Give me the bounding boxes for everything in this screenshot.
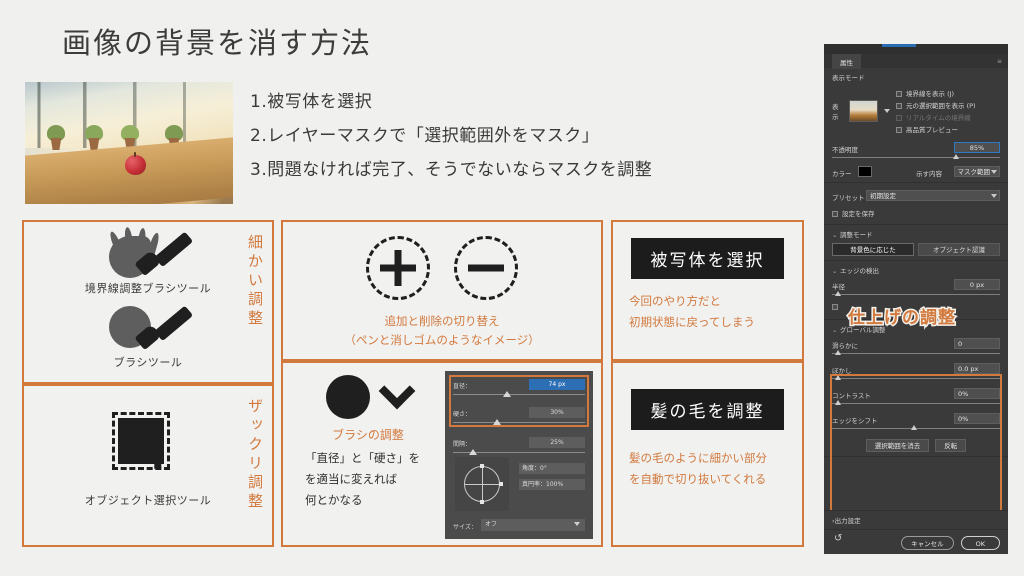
caret-down-icon[interactable]: [884, 109, 890, 113]
brush-desc-line3: 何とかなる: [305, 490, 443, 511]
indicates-label: 示す内容: [916, 168, 942, 178]
step-item: 2.レイヤーマスクで「選択範囲外をマスク」: [250, 119, 652, 153]
section-preset: プリセット 初期設定 設定を保存: [824, 183, 1008, 225]
cancel-button[interactable]: キャンセル: [901, 536, 954, 550]
card-brush-settings: ブラシの調整 「直径」と「硬さ」を を適当に変えれば 何とかなる 直径： 74 …: [281, 361, 603, 547]
brush-settings-panel: 直径： 74 px 硬さ： 30% 間隔： 25% 角度：0°: [445, 371, 593, 539]
color-swatch[interactable]: [858, 166, 872, 177]
overlay-finish-label: 仕上げの調整: [848, 303, 956, 328]
refine-edge-brush-icon: [105, 228, 191, 280]
card-select-subject: 被写体を選択 今回のやり方だと 初期状態に戻ってしまう: [611, 220, 804, 361]
contrast-value[interactable]: 0%: [954, 388, 1000, 399]
smooth-label: 滑らかに: [832, 340, 858, 350]
page-title: 画像の背景を消す方法: [62, 20, 372, 62]
tab-properties[interactable]: 属性: [832, 54, 861, 69]
card-fine-adjust: 細かい調整 境界線調整ブラシツール ブラシツール: [22, 220, 274, 384]
hardness-value[interactable]: 30%: [529, 407, 585, 418]
adjust-mode-color-aware[interactable]: 背景色に応じた: [832, 243, 914, 256]
color-label: カラー: [832, 168, 852, 178]
ok-button[interactable]: OK: [961, 536, 1000, 550]
smooth-slider[interactable]: [832, 350, 1000, 358]
step-item: 1.被写体を選択: [250, 85, 652, 119]
save-settings-label: 設定を保存: [842, 210, 875, 218]
radius-value[interactable]: 0 px: [954, 279, 1000, 290]
feather-value[interactable]: 0.0 px: [954, 363, 1000, 374]
card-add-subtract: 追加と削除の切り替え （ペンと消しゴムのようなイメージ）: [281, 220, 603, 361]
tool-caption-refine-brush: 境界線調整ブラシツール: [24, 280, 272, 296]
checkbox-label: 元の選択範囲を表示 (P): [906, 102, 976, 110]
invert-button[interactable]: 反転: [935, 439, 966, 452]
checkbox-box[interactable]: [896, 127, 902, 133]
reset-icon[interactable]: ↺: [834, 533, 842, 544]
opacity-slider[interactable]: [832, 154, 1000, 162]
view-mode-title: 表示モード: [832, 72, 1000, 82]
banner-select-subject: 被写体を選択: [631, 238, 784, 279]
radius-label: 半径: [832, 281, 845, 291]
size-value: オフ: [485, 521, 497, 528]
checkbox-box: [896, 115, 902, 121]
indicates-value: マスク範囲: [958, 168, 991, 176]
checkbox-save-settings[interactable]: 設定を保存: [832, 208, 1000, 218]
shift-edge-slider[interactable]: [832, 425, 1000, 433]
view-thumbnail[interactable]: [849, 100, 878, 122]
feather-label: ぼかし: [832, 365, 852, 375]
panel-footer: ›出力設定 キャンセル OK ↺: [824, 510, 1008, 554]
step-item: 3.問題なければ完了、そうでないならマスクを調整: [250, 153, 652, 187]
edge-detection-title-label: エッジの検出: [840, 267, 879, 275]
feather-slider[interactable]: [832, 375, 1000, 383]
card-refine-hair: 髪の毛を調整 髪の毛のように細かい部分 を自動で切り抜いてくれる: [611, 361, 804, 547]
card-fine-vertical-label: 細かい調整: [245, 234, 266, 329]
spacing-value[interactable]: 25%: [529, 437, 585, 448]
smooth-value[interactable]: 0: [954, 338, 1000, 349]
tool-caption-brush: ブラシツール: [24, 354, 272, 370]
hardness-label: 硬さ：: [453, 409, 471, 418]
checkbox-show-original-selection[interactable]: 元の選択範囲を表示 (P): [896, 100, 1000, 110]
hardness-slider[interactable]: [453, 419, 585, 428]
photo-apple: [125, 155, 146, 175]
roundness-label: 真円率：: [522, 481, 546, 488]
output-settings-row[interactable]: ›出力設定: [824, 510, 1008, 530]
roundness-value: 100%: [546, 481, 563, 488]
spacing-label: 間隔：: [453, 439, 471, 448]
diameter-value[interactable]: 74 px: [529, 379, 585, 390]
diameter-label: 直径：: [453, 381, 471, 390]
checkbox-box[interactable]: [832, 304, 838, 310]
checkbox-realtime-edge: リアルタイムの境界線: [896, 112, 1000, 122]
hero-photo: [25, 82, 233, 204]
subject-note-line2: 初期状態に戻ってしまう: [629, 312, 802, 333]
plus-circle-icon: [366, 236, 430, 300]
angle-roundness-dial[interactable]: [455, 457, 509, 511]
panel-titlebar[interactable]: [824, 44, 1008, 54]
shift-edge-value[interactable]: 0%: [954, 413, 1000, 424]
subject-note-line1: 今回のやり方だと: [629, 291, 802, 312]
preset-label: プリセット: [832, 192, 865, 202]
checkbox-high-quality-preview[interactable]: 高品質プレビュー: [896, 124, 1000, 134]
contrast-label: コントラスト: [832, 390, 871, 400]
angle-field[interactable]: 角度：0°: [519, 463, 585, 474]
adjust-mode-object-aware[interactable]: オブジェクト認識: [918, 243, 1000, 256]
object-selection-tool-icon: [102, 408, 194, 482]
contrast-slider[interactable]: [832, 400, 1000, 408]
checkbox-label: 高品質プレビュー: [906, 126, 958, 134]
indicates-dropdown[interactable]: マスク範囲: [954, 166, 1001, 177]
preset-value: 初期設定: [870, 192, 896, 200]
hair-note-line1: 髪の毛のように細かい部分: [629, 448, 802, 469]
hair-note-line2: を自動で切り抜いてくれる: [629, 469, 802, 490]
tool-caption-object-selection: オブジェクト選択ツール: [24, 492, 272, 508]
section-view-mode: 表示モード 表示 境界線を表示 (J) 元の選択範囲を表示 (P) リアルタイム…: [824, 68, 1008, 183]
shift-edge-label: エッジをシフト: [832, 415, 878, 425]
checkbox-show-edge[interactable]: 境界線を表示 (J): [896, 88, 1000, 98]
size-dropdown[interactable]: オフ: [481, 519, 585, 531]
checkbox-box[interactable]: [896, 103, 902, 109]
caret-down-icon: [574, 522, 580, 526]
opacity-value[interactable]: 85%: [954, 142, 1000, 153]
checkbox-box[interactable]: [896, 91, 902, 97]
view-label: 表示: [832, 101, 843, 121]
banner-refine-hair: 髪の毛を調整: [631, 389, 784, 430]
minus-circle-icon: [454, 236, 518, 300]
output-settings-title: 出力設定: [835, 517, 861, 525]
radius-slider[interactable]: [832, 291, 1000, 299]
caret-down-icon: [991, 194, 997, 198]
section-adjust-mode: ⌄調整モード 背景色に応じた オブジェクト認識: [824, 225, 1008, 261]
size-dropdown-row[interactable]: サイズ： オフ: [453, 519, 585, 531]
clear-selection-button[interactable]: 選択範囲を消去: [866, 439, 930, 452]
brush-tool-icon: [105, 302, 191, 354]
size-label: サイズ：: [453, 522, 477, 531]
twirl-icon[interactable]: ⌄: [832, 267, 840, 275]
brush-preview-dot-icon: [326, 375, 370, 419]
card-rough-vertical-label: ザックリ調整: [245, 398, 266, 512]
adjust-mode-title-label: 調整モード: [840, 231, 873, 239]
section-global-adjust: ⌄グローバル調整 滑らかに 0 ぼかし 0.0 px コントラスト 0% エッジ…: [824, 320, 1008, 457]
panel-tabbar: 属性 ≡: [824, 54, 1008, 68]
addsub-note-line2: （ペンと消しゴムのようなイメージ）: [283, 331, 601, 350]
twirl-icon[interactable]: ⌄: [832, 326, 840, 334]
brush-desc-line1: 「直径」と「硬さ」を: [305, 448, 443, 469]
twirl-icon[interactable]: ⌄: [832, 231, 840, 239]
angle-label: 角度：: [522, 465, 540, 472]
angle-value: 0°: [540, 465, 547, 472]
opacity-label: 不透明度: [832, 144, 858, 154]
roundness-field[interactable]: 真円率：100%: [519, 479, 585, 490]
chevron-down-icon: [379, 373, 416, 410]
edge-detection-title[interactable]: ⌄エッジの検出: [832, 265, 1000, 275]
card-rough-adjust: ザックリ調整 オブジェクト選択ツール: [22, 384, 274, 547]
caret-down-icon: [991, 170, 997, 174]
adjust-mode-title[interactable]: ⌄調整モード: [832, 229, 1000, 239]
addsub-note-line1: 追加と削除の切り替え: [283, 312, 601, 331]
brush-heading: ブラシの調整: [293, 426, 443, 443]
panel-menu-icon[interactable]: ≡: [997, 58, 1002, 65]
properties-panel: 属性 ≡ 表示モード 表示 境界線を表示 (J) 元の選択範囲を表示 (P) リ…: [824, 44, 1008, 554]
checkbox-label: リアルタイムの境界線: [906, 114, 971, 122]
checkbox-box[interactable]: [832, 211, 838, 217]
preset-dropdown[interactable]: 初期設定: [866, 190, 1000, 201]
checkbox-label: 境界線を表示 (J): [906, 90, 954, 98]
steps-list: 1.被写体を選択 2.レイヤーマスクで「選択範囲外をマスク」 3.問題なければ完…: [250, 85, 652, 187]
brush-desc-line2: を適当に変えれば: [305, 469, 443, 490]
diameter-slider[interactable]: [453, 391, 585, 400]
